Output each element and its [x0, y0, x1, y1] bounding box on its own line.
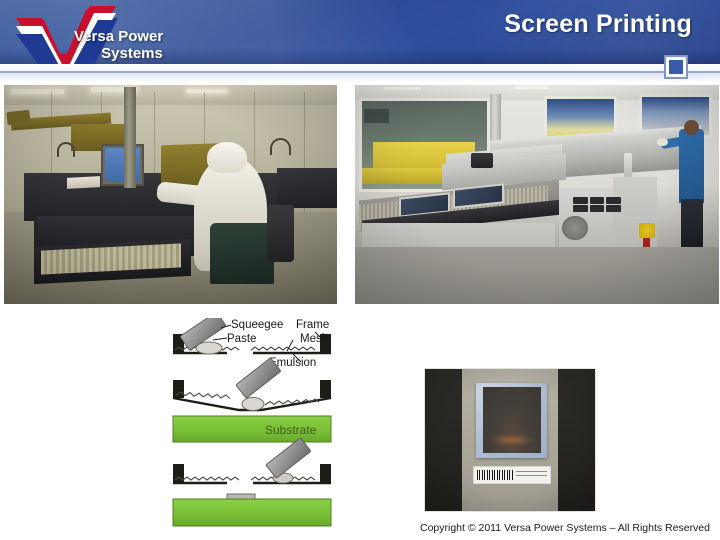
frame-post-right [320, 380, 331, 398]
accent-square-decoration [664, 55, 688, 79]
photo-cleanroom-printer [4, 85, 337, 304]
squeegee-blade [266, 438, 311, 478]
logo-line-2: Systems [74, 45, 190, 62]
screen-printing-process-diagram: Squeegee Paste Frame Mesh Emulsion [165, 318, 347, 528]
label-frame: Frame [296, 319, 329, 331]
page-title: Screen Printing [504, 10, 692, 39]
photo-printed-cell-with-barcode [424, 368, 596, 512]
printed-deposit [227, 494, 255, 499]
slide: Screen Printing [0, 0, 720, 540]
squeegee-blade [236, 358, 281, 398]
frame-post-right [320, 464, 331, 482]
substrate-block [173, 499, 331, 526]
divider-line [0, 71, 720, 73]
diagram-stage-2: Substrate [173, 358, 331, 442]
logo-line-1: Versa Power [74, 28, 163, 45]
frame-post-left [173, 380, 184, 398]
label-paste: Paste [227, 333, 256, 345]
label-substrate: Substrate [265, 423, 317, 437]
header-divider [0, 64, 720, 82]
label-mesh: Mesh [300, 333, 328, 345]
emulsion-hatch [175, 477, 315, 480]
diagram-stage-3 [173, 438, 331, 526]
logo-wordmark: Versa Power Systems [74, 28, 190, 62]
label-squeegee: Squeegee [231, 319, 283, 331]
copyright-footer: Copyright © 2011 Versa Power Systems – A… [420, 522, 710, 534]
photo-conveyor-furnace [355, 85, 719, 304]
paste-blob [242, 398, 264, 411]
